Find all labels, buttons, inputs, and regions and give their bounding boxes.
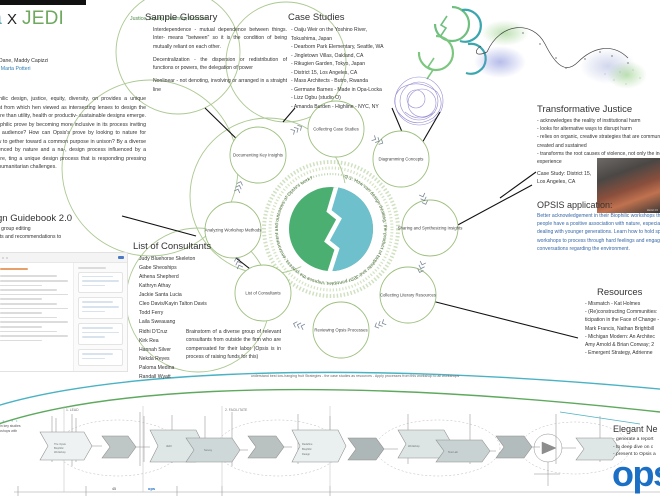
list-item: Paloma Medina	[139, 364, 244, 373]
hub-node-collecting-literary-resources[interactable]: Collecting Literary Resources	[373, 292, 443, 297]
header-rule	[0, 0, 86, 5]
list-item: Todd Ferry	[139, 309, 244, 318]
comment-card	[78, 349, 123, 366]
svg-text:Workshop: Workshop	[408, 444, 420, 448]
doc-line	[0, 289, 57, 291]
resource-item: - Michigan Modern: An Architec	[585, 333, 660, 341]
opsis-application-body: Better acknowledgement in their Biophili…	[537, 212, 660, 253]
next-steps-heading: Elegant Ne	[613, 424, 658, 434]
list-item: Judy Bluehorse Skeleton	[139, 255, 244, 264]
resources-list: - Mismatch - Kat Holmes - (Re)constructi…	[585, 300, 660, 357]
glossary-entry: Decentralization - the dispersion or red…	[153, 56, 287, 73]
authors-blue: DeSivella, Marta Potteri	[0, 66, 176, 72]
hub-node-analyzing-workshop-methods[interactable]: Analyzing Workshop Methods	[198, 227, 268, 232]
case-studies-list: - Oaiju Weir on the Yoshino River, Tokus…	[291, 26, 425, 111]
transformative-justice-heading: Transformative Justice	[537, 104, 632, 115]
tj-bullet: - relies on organic, creative strategies…	[537, 133, 660, 149]
title-jedi: JEDI	[22, 8, 64, 30]
case-study-item: - Germane Barnes - Made in Opa-Locka	[291, 86, 425, 95]
case-study-item: - Oaiju Weir on the Yoshino River,	[291, 26, 425, 35]
title-biophilia: ilia	[0, 8, 2, 30]
list-item: Cleo Davis/Kayin Talton Davis	[139, 300, 244, 309]
hub-node-sharing-insights[interactable]: Sharing and Synthesizing Insights	[395, 225, 465, 230]
consultants-heading: List of Consultants	[133, 241, 211, 252]
hub-node-diagramming-concepts[interactable]: Diagramming Concepts	[366, 156, 436, 161]
doc-line	[0, 280, 68, 282]
hub-node-documenting-key-insights[interactable]: Documenting Key Insights	[223, 152, 293, 157]
tj-bullet: - acknowledges the reality of institutio…	[537, 117, 660, 125]
doc-line	[0, 294, 68, 296]
screenshot-document-pane	[0, 263, 74, 372]
timeline-side-note: Begin key studies workshops with	[0, 424, 54, 434]
glossary-heading: Sample Glossary	[145, 12, 217, 23]
case-study-item: - Mass Architects - Butro, Rwanda	[291, 77, 425, 86]
resource-item: - Mismatch - Kat Holmes	[585, 300, 660, 308]
screenshot-toolbar	[0, 253, 127, 263]
svg-text:Test Lab: Test Lab	[448, 450, 458, 454]
screenshot-comments-pane	[74, 263, 127, 372]
comments-header-line	[78, 267, 106, 269]
hub-node-list-of-consultants[interactable]: List of Consultants	[228, 290, 298, 295]
opsis-application-heading: OPSIS application:	[537, 200, 613, 210]
svg-text:Biophilic: Biophilic	[302, 447, 312, 451]
svg-text:The Opsis: The Opsis	[54, 442, 67, 446]
doc-title-line	[0, 268, 28, 270]
comment-card	[78, 272, 123, 294]
doc-line	[0, 340, 42, 342]
svg-text:Redefine: Redefine	[302, 442, 313, 446]
case-study-item: - Jingletown Villas, Oakland, CA	[291, 52, 425, 61]
timeline-phase-2-label: 2. FACILITATE	[225, 408, 247, 412]
glossary-entries: Interdependence - mutual dependence betw…	[153, 26, 287, 99]
svg-text:Q.1: How can design thinking,: Q.1: How can design thinking, the produc…	[274, 174, 388, 286]
list-item: Athena Shepherd	[139, 273, 244, 282]
toolbar-dot-icon	[2, 257, 4, 259]
list-item: Laila Sweauang	[139, 318, 244, 327]
timeline-phase-1-label: 1. LEAD	[66, 408, 79, 412]
doc-line	[0, 303, 57, 305]
hub-node-collecting-case-studies[interactable]: Collecting Case Studies	[301, 126, 371, 131]
case-study-item: - District 15, Los Angeles, CA	[291, 69, 425, 78]
opsis-logo: ops	[612, 456, 660, 492]
comment-card	[78, 323, 123, 345]
resource-item: ticipation in the Face of Change -	[585, 316, 660, 324]
hub-center-text: Q.1: How can design thinking, the produc…	[274, 174, 388, 286]
svg-text:Design: Design	[302, 452, 311, 456]
resources-heading: Resources	[597, 287, 642, 298]
abstract-text: tion of biophilic design, justice, equit…	[0, 95, 146, 172]
case-study-item: - Lizz Ogbu (studio O)	[291, 94, 425, 103]
doc-line	[0, 317, 57, 319]
brainstorm-note: Brainstorm of a diverse group of relevan…	[186, 328, 281, 361]
resource-item: Amy Arnold & Brian Conway; 2	[585, 341, 660, 349]
toolbar-share-button	[118, 256, 124, 259]
doc-line	[0, 285, 42, 287]
case-study-item: - Dearborn Park Elementary, Seattle, WA	[291, 43, 425, 52]
glossary-entry: Nonlinear - not denoting, involving or a…	[153, 77, 287, 94]
case-studies-heading: Case Studies	[288, 12, 345, 23]
case-study-item: - Rikugien Garden, Tokyo, Japan	[291, 60, 425, 69]
doc-line	[0, 298, 42, 300]
svg-text:Survey: Survey	[204, 448, 213, 452]
comment-card	[78, 297, 123, 319]
guidebook-heading: Design Guidebook 2.0	[0, 213, 72, 224]
doc-line	[0, 312, 42, 314]
case-study-item: Tokushima, Japan	[291, 35, 425, 44]
doc-line	[0, 275, 57, 277]
resource-item: Mark Francis, Nathan Brightbill	[585, 325, 660, 333]
guidebook-screenshot	[0, 252, 128, 372]
hub-node-reviewing-opsis-processes[interactable]: Reviewing Opsis Processes	[306, 327, 376, 332]
poster-canvas: Q.1: How can design thinking, the produc…	[0, 0, 660, 500]
authors-orange: ermined man e and acisms	[0, 30, 172, 59]
resource-item: - Emergent Strategy, Adrienne	[585, 349, 660, 357]
svg-text:Workshop: Workshop	[54, 450, 66, 454]
title-cross-icon: X	[7, 11, 17, 28]
workshop-footer-note: understand best low-hanging fruit Strate…	[205, 374, 505, 378]
timeline-start-marker-icon: • • • • •	[0, 418, 18, 423]
glossary-entry: Interdependence - mutual dependence betw…	[153, 26, 287, 51]
case-study-item: - Amanda Burden - Highline - NYC, NY	[291, 103, 425, 112]
list-item: Gabe Sheoships	[139, 264, 244, 273]
doc-line	[0, 326, 42, 328]
resource-item: - (Re)constructing Communities:	[585, 308, 660, 316]
doc-line	[0, 321, 68, 323]
doc-line	[0, 331, 57, 333]
doc-line	[0, 308, 68, 310]
screenshot-columns	[0, 263, 127, 372]
svg-text:JEDI: JEDI	[166, 444, 172, 448]
consultants-list: Judy Bluehorse Skeleton Gabe Sheoships A…	[139, 255, 244, 382]
svg-text:Biophilic: Biophilic	[54, 446, 64, 450]
authors-black: son, Martha Dane, Maddy Capizzi	[0, 58, 170, 66]
tj-bullet: - looks for alternative ways to disrupt …	[537, 125, 660, 133]
doc-line	[0, 335, 68, 337]
footer-opsis-mark: ops	[148, 486, 155, 491]
footer-tiny-text: 45	[112, 487, 116, 491]
toolbar-dot-icon	[6, 257, 8, 259]
